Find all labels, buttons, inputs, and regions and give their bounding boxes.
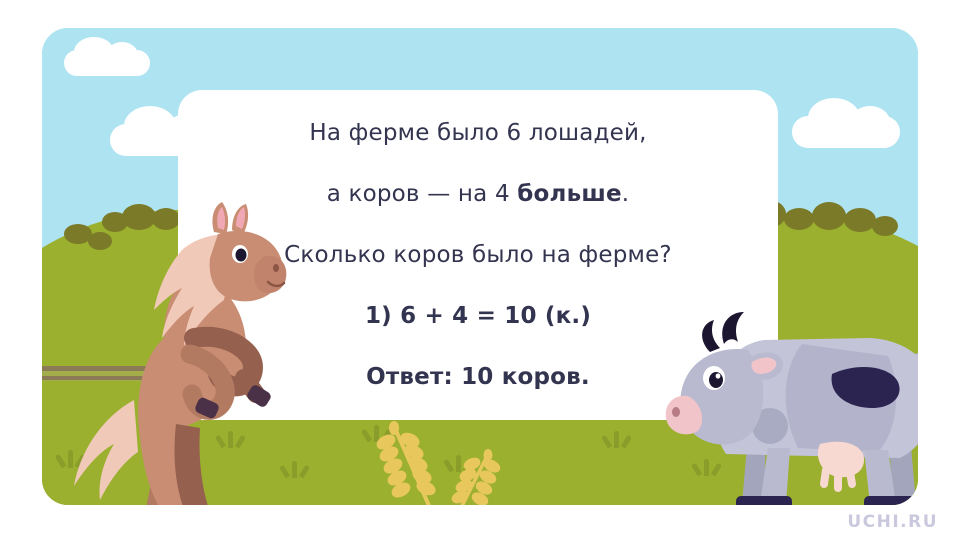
problem-line-1: На ферме было 6 лошадей, — [178, 122, 778, 145]
problem-line-2-prefix: а коров — на 4 — [327, 181, 518, 207]
cloud-top-left-icon — [64, 50, 150, 76]
wheat-stalk-large-icon — [372, 420, 452, 505]
problem-line-2-emphasis: больше — [517, 181, 621, 207]
slide-frame: На ферме было 6 лошадей, а коров — на 4 … — [42, 28, 918, 505]
wheat-stalk-small-icon — [442, 446, 504, 505]
uchi-ru-watermark: UCHI.RU — [847, 512, 938, 532]
problem-line-2-suffix: . — [622, 181, 630, 207]
grass-tuft — [602, 428, 632, 448]
cow-illustration — [652, 308, 918, 505]
horse-illustration — [72, 188, 292, 505]
cloud-right-icon — [792, 116, 900, 148]
